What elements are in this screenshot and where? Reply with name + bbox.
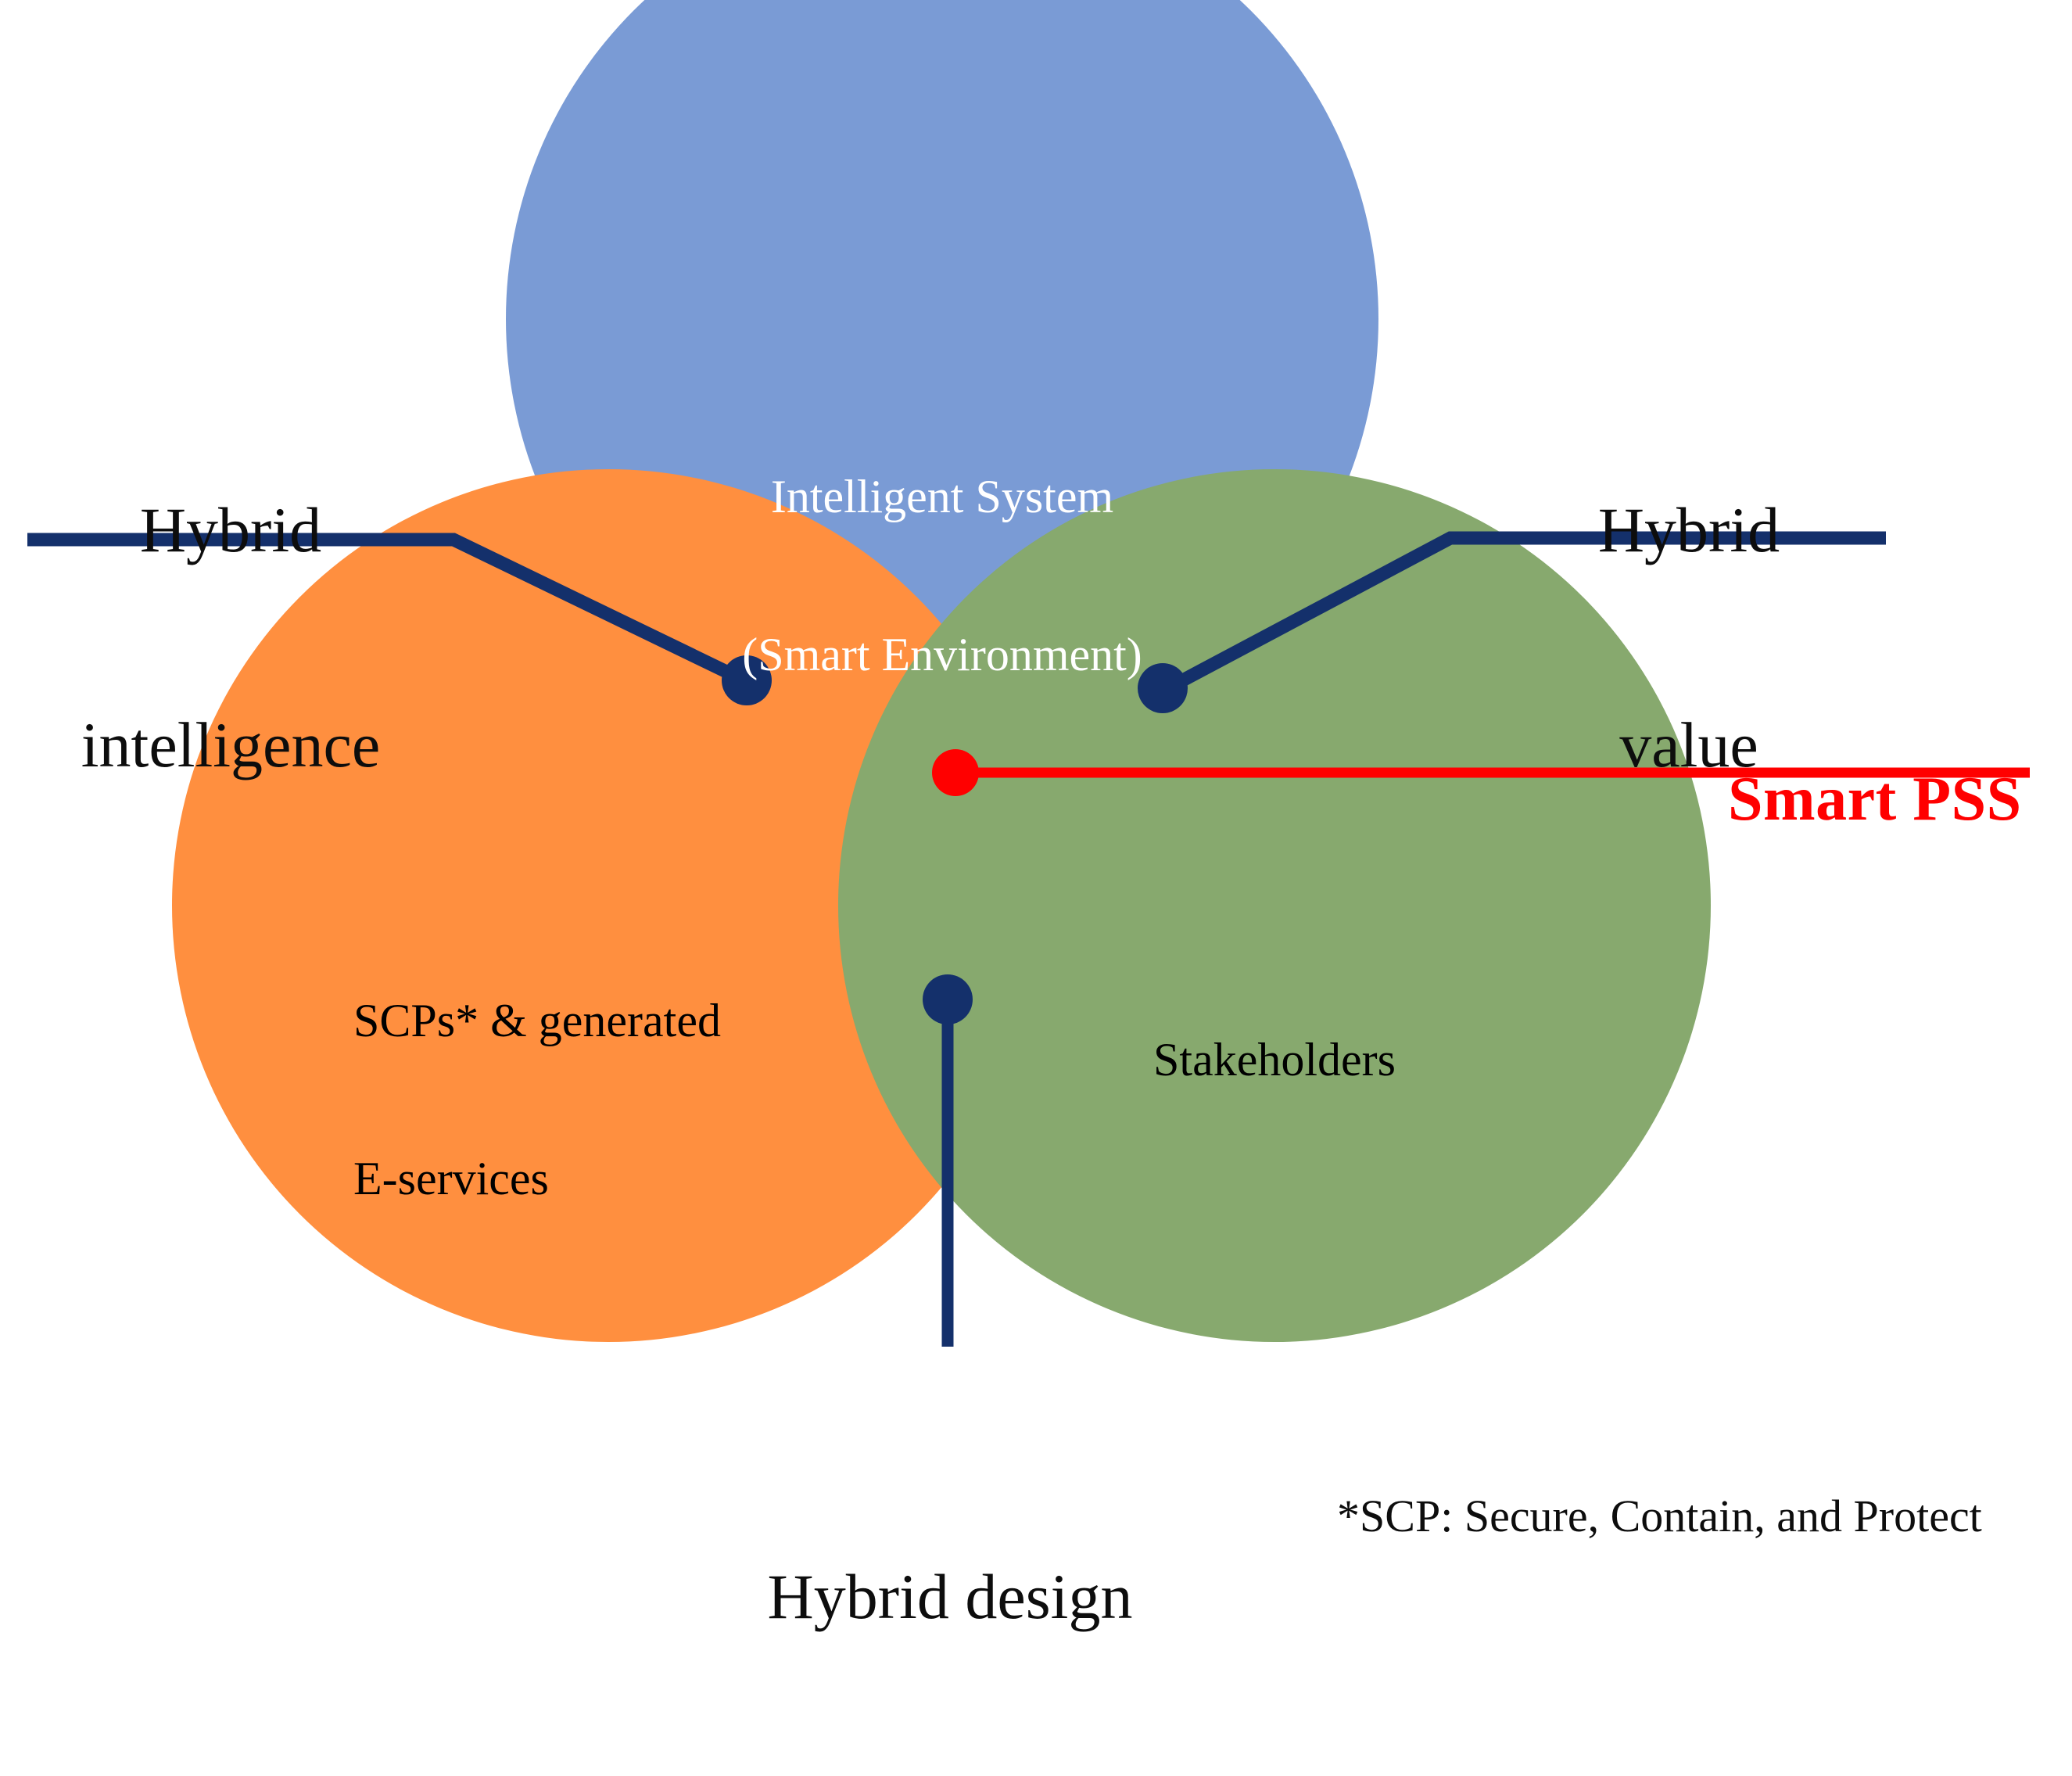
callout-hybrid-design-line1: Hybrid design (669, 1561, 1231, 1633)
circle-label-scps-eservices-line1: SCPs* & generated (353, 995, 948, 1047)
callout-hybrid-intelligence-line1: Hybrid (23, 494, 438, 566)
footnote-text: *SCP: Secure, Contain, and Protect (1337, 1491, 1982, 1541)
callout-hybrid-intelligence-line2: intelligence (23, 709, 438, 781)
callout-label-hybrid-design: Hybrid design (669, 1417, 1231, 1776)
footnote-scp-definition: *SCP: Secure, Contain, and Protect (1292, 1441, 1982, 1593)
venn-diagram-canvas: Intelligent System (Smart Environment) S… (0, 0, 2072, 1523)
circle-label-scps-eservices: SCPs* & generated E-services (353, 890, 948, 1311)
callout-label-smart-pss: Smart PSS (1664, 694, 2022, 905)
circle-label-stakeholders-line1: Stakeholders (1040, 1034, 1509, 1086)
circle-label-intelligent-system: Intelligent System (Smart Environment) (629, 366, 1255, 787)
circle-label-stakeholders: Stakeholders (1040, 929, 1509, 1192)
circle-label-scps-eservices-line2: E-services (353, 1153, 948, 1205)
circle-label-intelligent-system-line1: Intelligent System (629, 471, 1255, 523)
callout-hybrid-value-line1: Hybrid (1486, 494, 1892, 566)
smart-pss-text: Smart PSS (1728, 765, 2022, 834)
callout-label-hybrid-intelligence: Hybrid intelligence (23, 350, 438, 925)
circle-label-intelligent-system-line2: (Smart Environment) (629, 629, 1255, 681)
